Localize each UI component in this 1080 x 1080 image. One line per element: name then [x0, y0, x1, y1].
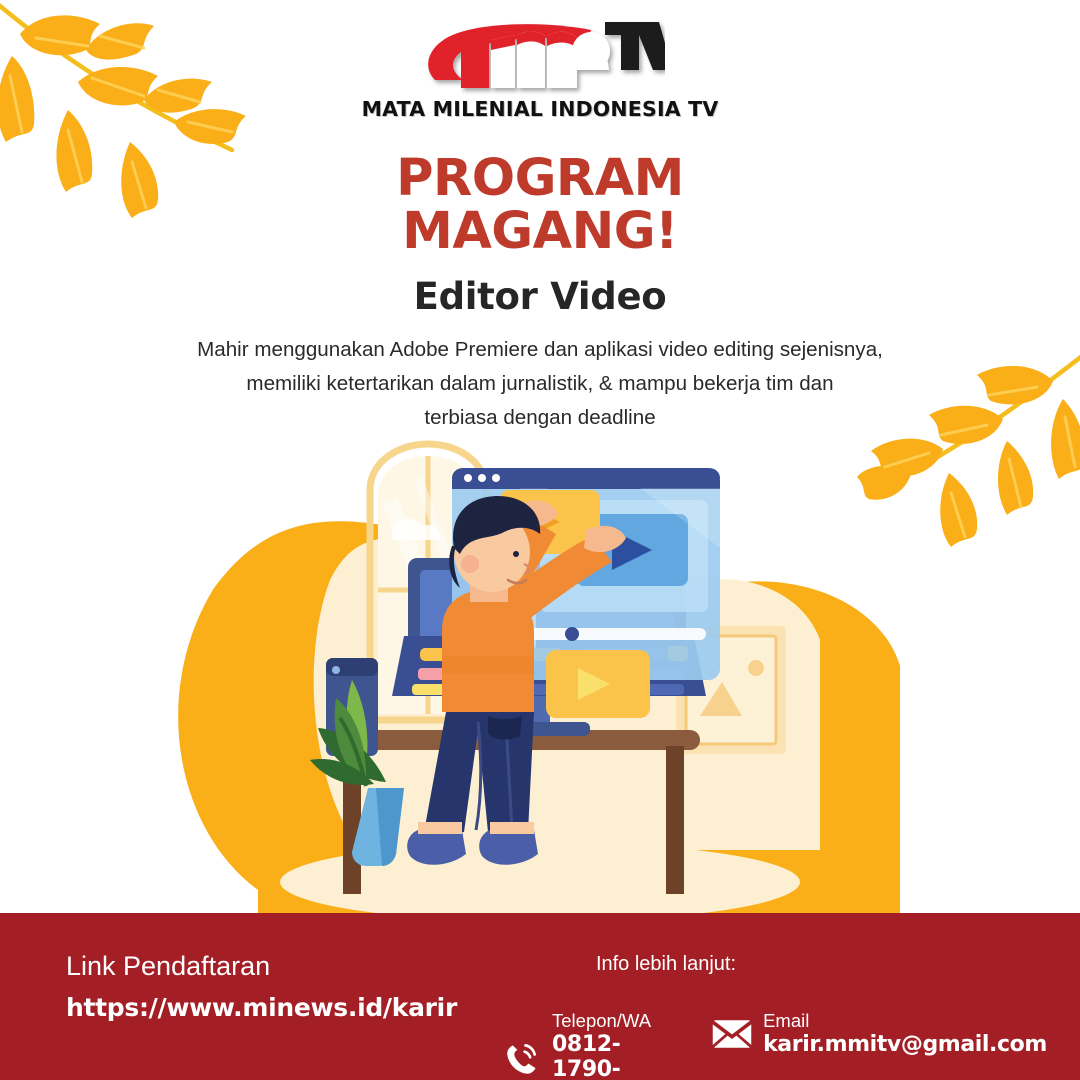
video-editor-illustration — [0, 430, 1080, 930]
envelope-icon — [709, 1013, 755, 1055]
contact-list: Telepon/WA 0812-1790-7141 E — [498, 1011, 1047, 1080]
requirements-line-1: Mahir menggunakan Adobe Premiere dan apl… — [120, 333, 960, 367]
page-title: PROGRAM MAGANG! — [0, 152, 1080, 258]
poster-canvas: MATA MILENIAL INDONESIA TV PROGRAM MAGAN… — [0, 0, 1080, 1080]
registration-url[interactable]: https://www.minews.id/karir — [66, 993, 457, 1022]
headline-line-1: PROGRAM — [396, 149, 684, 208]
phone-label: Telepon/WA — [552, 1010, 651, 1031]
contact-email[interactable]: Email karir.mmitv@gmail.com — [709, 1011, 1047, 1057]
logo-tagline: MATA MILENIAL INDONESIA TV — [362, 97, 719, 121]
contact-info-block: Info lebih lanjut: Telepon/WA 0812-1790-… — [498, 953, 1038, 976]
email-label: Email — [763, 1010, 809, 1031]
phone-number[interactable]: 0812-1790-7141 — [552, 1032, 620, 1080]
registration-link-block: Link Pendaftaran https://www.minews.id/k… — [66, 951, 457, 1022]
email-address[interactable]: karir.mmitv@gmail.com — [763, 1032, 1047, 1057]
shirt — [442, 590, 534, 712]
contact-footer: Link Pendaftaran https://www.minews.id/k… — [0, 913, 1080, 1080]
mmi-tv-logo-icon — [415, 8, 665, 96]
video-clip-lower — [546, 650, 650, 718]
brand-logo: MATA MILENIAL INDONESIA TV — [0, 8, 1080, 121]
phone-icon — [498, 1038, 544, 1080]
registration-label: Link Pendaftaran — [66, 951, 457, 982]
info-label: Info lebih lanjut: — [498, 953, 834, 976]
requirements-line-2: memiliki ketertarikan dalam jurnalistik,… — [120, 367, 960, 401]
requirements-text: Mahir menggunakan Adobe Premiere dan apl… — [120, 333, 960, 435]
position-title: Editor Video — [0, 275, 1080, 318]
contact-phone[interactable]: Telepon/WA 0812-1790-7141 — [498, 1011, 651, 1080]
headline-line-2: MAGANG! — [0, 205, 1080, 258]
